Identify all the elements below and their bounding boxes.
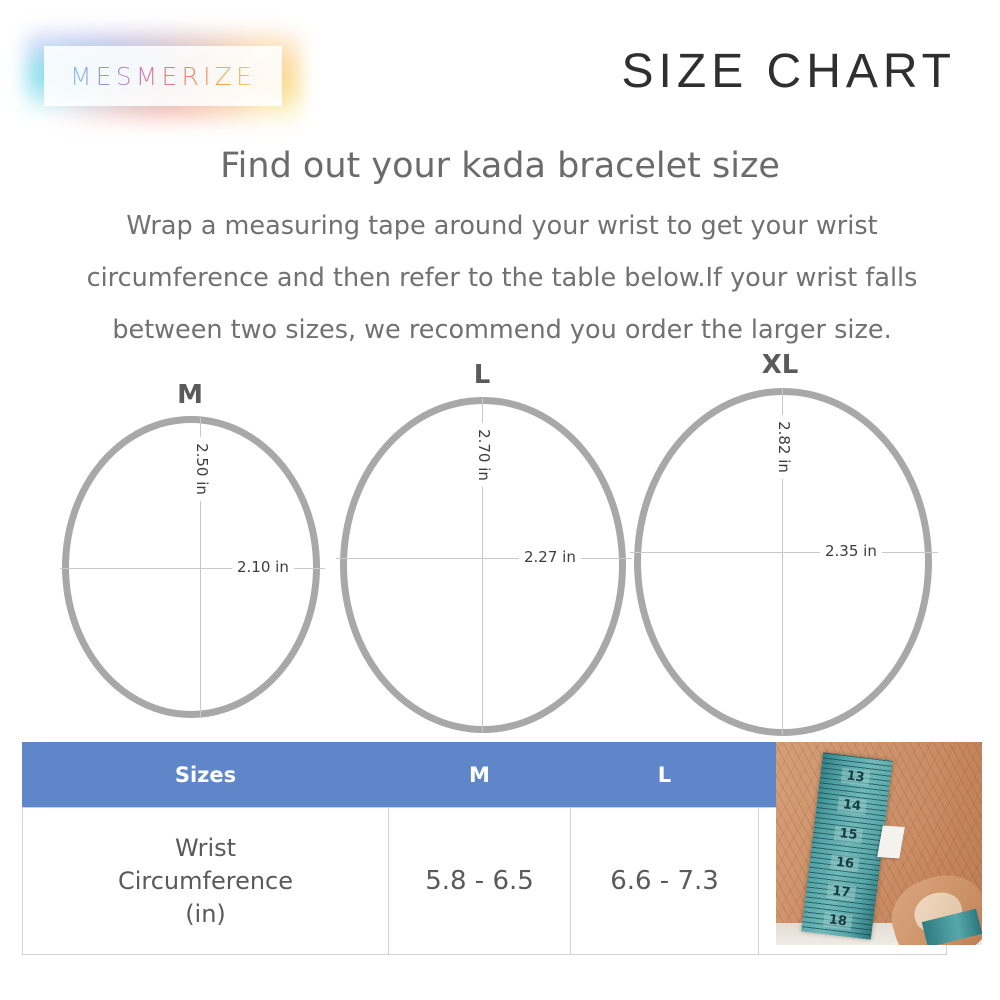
row-label-line-3: (in) — [185, 900, 226, 928]
oval-height-label-xl: 2.82 in — [771, 415, 797, 479]
table-header-sizes: Sizes — [23, 743, 389, 808]
oval-guide-horizontal-l — [336, 558, 632, 559]
wrist-measurement-photo: 13 14 15 16 17 18 — [776, 742, 982, 945]
page-title: SIZE CHART — [622, 44, 956, 99]
table-header-m: M — [389, 743, 571, 808]
intro-paragraph: Wrap a measuring tape around your wrist … — [52, 200, 952, 356]
oval-width-label-xl: 2.35 in — [820, 542, 882, 560]
row-label-line-1: Wrist — [175, 834, 236, 862]
tape-number-17: 17 — [826, 883, 856, 901]
oval-diagram-group: M 2.50 in 2.10 in L 2.70 in 2.27 in XL 2… — [0, 350, 1000, 740]
brand-wordmark: MESMERIZE — [44, 46, 282, 106]
tape-number-13: 13 — [841, 768, 871, 786]
oval-height-label-m: 2.50 in — [189, 437, 215, 501]
brand-logo: MESMERIZE — [44, 46, 282, 106]
tape-number-18: 18 — [823, 912, 853, 930]
cell-wrist-circumference-m: 5.8 - 6.5 — [389, 808, 571, 955]
oval-width-label-l: 2.27 in — [519, 548, 581, 566]
row-label-line-2: Circumference — [118, 867, 293, 895]
row-label-wrist-circumference: Wrist Circumference (in) — [23, 808, 389, 955]
oval-width-label-m: 2.10 in — [232, 558, 294, 576]
tape-number-14: 14 — [837, 797, 867, 815]
cell-wrist-circumference-l: 6.6 - 7.3 — [571, 808, 759, 955]
oval-size-label-m: M — [150, 380, 230, 410]
oval-guide-horizontal-xl — [630, 552, 938, 553]
intro-heading: Find out your kada bracelet size — [0, 146, 1000, 186]
tape-number-15: 15 — [834, 825, 864, 843]
oval-size-label-xl: XL — [738, 350, 822, 380]
tape-number-16: 16 — [830, 854, 860, 872]
oval-size-label-l: L — [442, 360, 522, 390]
oval-height-label-l: 2.70 in — [471, 423, 497, 487]
table-header-l: L — [571, 743, 759, 808]
